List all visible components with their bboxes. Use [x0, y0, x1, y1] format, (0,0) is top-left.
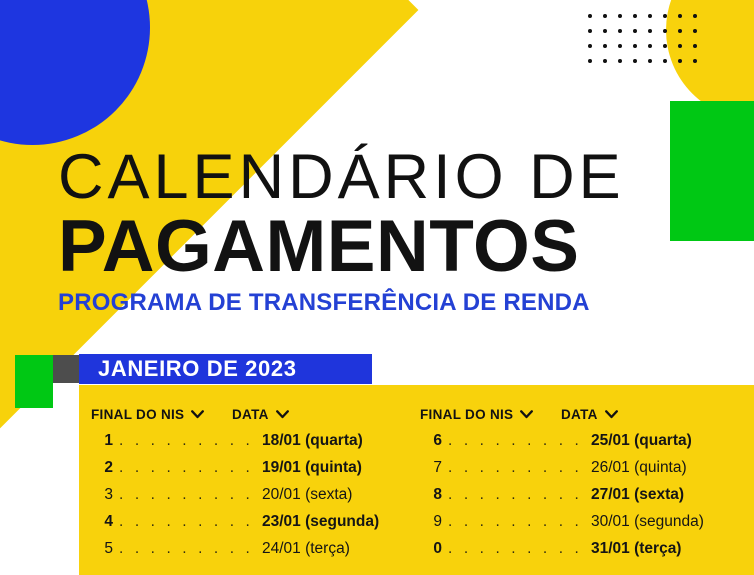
row-payment-date: 23/01 (segunda): [262, 513, 379, 531]
row-payment-date: 30/01 (segunda): [591, 513, 704, 531]
row-nis-digit: 9: [420, 513, 442, 531]
grid-dot: [603, 14, 607, 18]
grid-dot: [603, 29, 607, 33]
row-nis-digit: 1: [91, 432, 113, 450]
grid-dot: [618, 29, 622, 33]
leader-dots: . . . . . . . . . . . . . .: [119, 486, 262, 504]
chevron-down-icon[interactable]: [520, 410, 533, 419]
grid-dot: [678, 29, 682, 33]
page-title-line1: CALENDÁRIO DE: [58, 142, 718, 212]
grid-dot: [663, 59, 667, 63]
grid-dot: [618, 14, 622, 18]
grid-dot: [648, 44, 652, 48]
grid-dot: [678, 59, 682, 63]
row-nis-digit: 4: [91, 513, 113, 531]
grid-dot: [693, 59, 697, 63]
grid-dot: [633, 14, 637, 18]
header-data-label-right: DATA: [561, 407, 598, 422]
header-final-do-nis-label-right: FINAL DO NIS: [420, 407, 513, 422]
grid-dot: [588, 59, 592, 63]
dot-grid-pattern: [588, 14, 704, 70]
schedule-rows-left: 1. . . . . . . . . . . . . .18/01 (quart…: [91, 432, 425, 567]
row-nis-digit: 7: [420, 459, 442, 477]
leader-dots: . . . . . . . . . . . . . .: [119, 540, 262, 558]
header-data-right[interactable]: DATA: [561, 407, 618, 422]
grid-dot: [663, 29, 667, 33]
header-data-label-left: DATA: [232, 407, 269, 422]
table-row: 7. . . . . . . . . . . . . .26/01 (quint…: [420, 459, 754, 486]
leader-dots: . . . . . . . . . . . . . .: [119, 459, 262, 477]
table-row: 4. . . . . . . . . . . . . .23/01 (segun…: [91, 513, 425, 540]
grid-dot: [663, 44, 667, 48]
row-nis-digit: 8: [420, 486, 442, 504]
column-header-row-left: FINAL DO NIS DATA: [91, 405, 425, 423]
column-header-row-right: FINAL DO NIS DATA: [420, 405, 754, 423]
chevron-down-icon[interactable]: [191, 410, 204, 419]
header-final-do-nis-label-left: FINAL DO NIS: [91, 407, 184, 422]
row-nis-digit: 6: [420, 432, 442, 450]
grid-dot: [588, 29, 592, 33]
leader-dots: . . . . . . . . . . . . . .: [448, 459, 591, 477]
header-final-do-nis-left[interactable]: FINAL DO NIS: [91, 407, 232, 422]
row-payment-date: 19/01 (quinta): [262, 459, 362, 477]
grid-dot: [648, 14, 652, 18]
headline-block: CALENDÁRIO DE PAGAMENTOS PROGRAMA DE TRA…: [58, 142, 718, 318]
grid-dot: [588, 44, 592, 48]
schedule-column-right: FINAL DO NIS DATA 6. . . . . . . . . . .…: [420, 385, 754, 575]
table-row: 0. . . . . . . . . . . . . .31/01 (terça…: [420, 540, 754, 567]
leader-dots: . . . . . . . . . . . . . .: [448, 486, 591, 504]
table-row: 9. . . . . . . . . . . . . .30/01 (segun…: [420, 513, 754, 540]
table-row: 5. . . . . . . . . . . . . .24/01 (terça…: [91, 540, 425, 567]
schedule-panel: FINAL DO NIS DATA 1. . . . . . . . . . .…: [79, 385, 754, 575]
chevron-down-icon[interactable]: [605, 410, 618, 419]
table-row: 1. . . . . . . . . . . . . .18/01 (quart…: [91, 432, 425, 459]
page-title-line2: PAGAMENTOS: [58, 208, 718, 286]
grid-dot: [648, 59, 652, 63]
row-payment-date: 26/01 (quinta): [591, 459, 687, 477]
month-banner-label: JANEIRO DE 2023: [98, 356, 297, 382]
schedule-rows-right: 6. . . . . . . . . . . . . .25/01 (quart…: [420, 432, 754, 567]
row-payment-date: 20/01 (sexta): [262, 486, 352, 504]
row-nis-digit: 5: [91, 540, 113, 558]
row-payment-date: 24/01 (terça): [262, 540, 350, 558]
row-payment-date: 31/01 (terça): [591, 540, 681, 558]
row-nis-digit: 0: [420, 540, 442, 558]
table-row: 3. . . . . . . . . . . . . .20/01 (sexta…: [91, 486, 425, 513]
schedule-column-left: FINAL DO NIS DATA 1. . . . . . . . . . .…: [91, 385, 425, 575]
banner-green-accent: [15, 355, 53, 408]
grid-dot: [678, 44, 682, 48]
grid-dot: [648, 29, 652, 33]
row-nis-digit: 3: [91, 486, 113, 504]
table-row: 6. . . . . . . . . . . . . .25/01 (quart…: [420, 432, 754, 459]
grid-dot: [618, 59, 622, 63]
grid-dot: [603, 59, 607, 63]
page-subtitle: PROGRAMA DE TRANSFERÊNCIA DE RENDA: [58, 288, 718, 318]
grid-dot: [693, 14, 697, 18]
grid-dot: [693, 44, 697, 48]
chevron-down-icon[interactable]: [276, 410, 289, 419]
leader-dots: . . . . . . . . . . . . . .: [448, 432, 591, 450]
row-payment-date: 27/01 (sexta): [591, 486, 684, 504]
row-nis-digit: 2: [91, 459, 113, 477]
grid-dot: [603, 44, 607, 48]
grid-dot: [633, 29, 637, 33]
payment-calendar-poster: CALENDÁRIO DE PAGAMENTOS PROGRAMA DE TRA…: [0, 0, 754, 575]
header-data-left[interactable]: DATA: [232, 407, 289, 422]
table-row: 8. . . . . . . . . . . . . .27/01 (sexta…: [420, 486, 754, 513]
leader-dots: . . . . . . . . . . . . . .: [119, 513, 262, 531]
row-payment-date: 18/01 (quarta): [262, 432, 363, 450]
grid-dot: [663, 14, 667, 18]
grid-dot: [633, 44, 637, 48]
leader-dots: . . . . . . . . . . . . . .: [119, 432, 262, 450]
table-row: 2. . . . . . . . . . . . . .19/01 (quint…: [91, 459, 425, 486]
banner-gray-accent: [53, 355, 79, 383]
header-final-do-nis-right[interactable]: FINAL DO NIS: [420, 407, 561, 422]
grid-dot: [633, 59, 637, 63]
month-banner: JANEIRO DE 2023: [79, 354, 372, 384]
grid-dot: [693, 29, 697, 33]
grid-dot: [618, 44, 622, 48]
leader-dots: . . . . . . . . . . . . . .: [448, 540, 591, 558]
grid-dot: [588, 14, 592, 18]
row-payment-date: 25/01 (quarta): [591, 432, 692, 450]
grid-dot: [678, 14, 682, 18]
leader-dots: . . . . . . . . . . . . . .: [448, 513, 591, 531]
